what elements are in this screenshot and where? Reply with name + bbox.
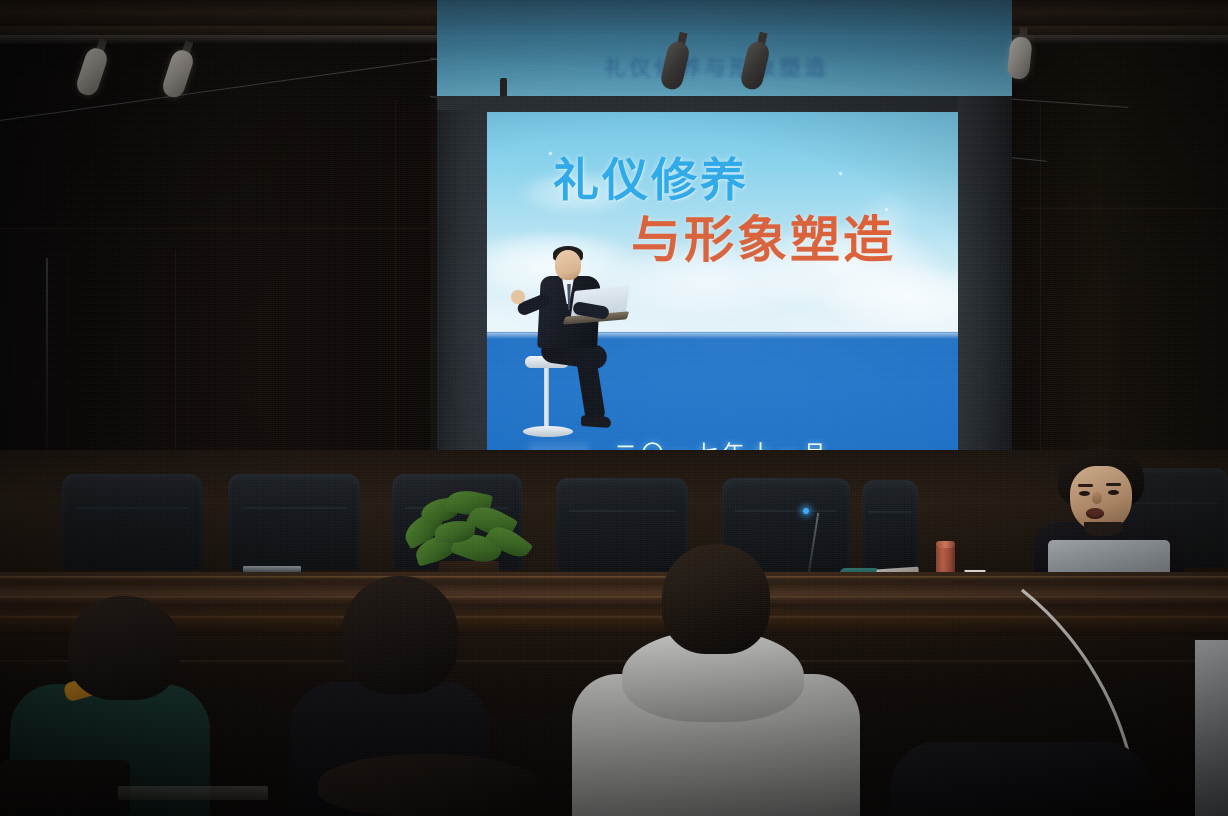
figure-left-hand — [511, 290, 525, 304]
presenter-eye-right — [1108, 490, 1119, 495]
audience-head — [662, 544, 770, 654]
wall-seam-left — [175, 250, 176, 470]
chair-6[interactable] — [862, 480, 918, 572]
audience-member-5 — [890, 742, 1150, 816]
audience-member-6-sleeve — [1195, 640, 1228, 816]
figure-shoe — [581, 415, 612, 428]
audience-body — [890, 742, 1150, 816]
microphone-led-indicator — [803, 508, 809, 514]
presenter-brow-right — [1106, 483, 1121, 486]
presenter-nose — [1092, 492, 1102, 504]
presenter-eye-left — [1079, 491, 1090, 496]
figure-legs — [541, 342, 615, 422]
audience-member-3 — [566, 544, 866, 816]
chair-2[interactable] — [228, 474, 360, 570]
audience-head — [68, 596, 180, 700]
thermos-cap — [936, 541, 955, 548]
slide-title-secondary: 与形象塑造 — [631, 200, 896, 272]
presentation-slide: 礼仪修养 与形象塑造 二〇一七年十一月 — [487, 112, 958, 504]
conference-hall-scene: 礼仪修养与形象塑造 — [0, 0, 1228, 816]
foreground-object — [0, 760, 130, 816]
projector-spill-top: 礼仪修养与形象塑造 — [437, 0, 1012, 100]
wall-seam-horizontal — [1020, 208, 1228, 209]
chair-1[interactable] — [62, 474, 202, 570]
sparkle-1 — [839, 172, 842, 175]
presenter-neckline — [1084, 522, 1122, 536]
wall-seam-left-h — [0, 228, 430, 229]
presenter-brow-left — [1078, 484, 1093, 487]
microphone-stand-pole — [46, 258, 48, 458]
audience-member-4 — [318, 754, 538, 816]
figure-head — [555, 250, 581, 280]
sparkle-4 — [549, 152, 552, 155]
banner-ghost-text: 礼仪修养与形象塑造 — [557, 52, 877, 82]
audience-head — [342, 576, 458, 694]
presenter-mouth — [1086, 508, 1104, 519]
audience-head — [318, 754, 538, 816]
foreground-edge — [118, 786, 268, 800]
wall-seam-near-screen — [395, 100, 396, 480]
